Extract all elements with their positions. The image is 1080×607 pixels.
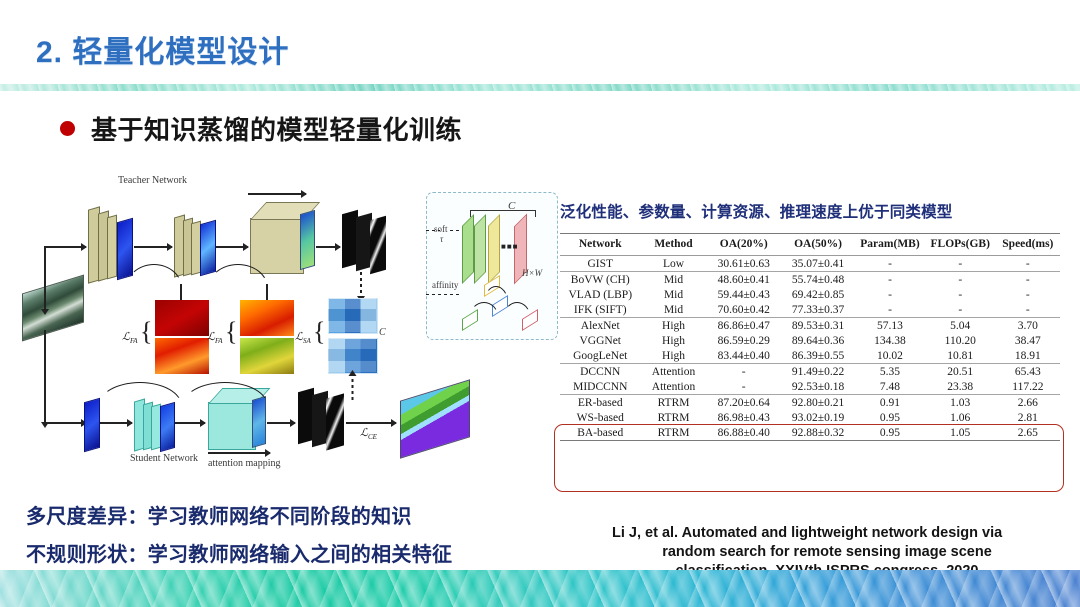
- cell-param: 57.13: [855, 318, 925, 334]
- table-row: BA-basedRTRM86.88±0.4092.88±0.320.951.05…: [560, 425, 1060, 441]
- ce-loss-label: ℒCE: [360, 426, 377, 441]
- citation-line-1: Li J, et al. Automated and lightweight n…: [612, 524, 1042, 543]
- cell-param: -: [855, 256, 925, 272]
- student-arrow-2: [175, 422, 205, 424]
- cell-oa50: 92.53±0.18: [781, 379, 855, 395]
- cell-oa20: 83.44±0.40: [707, 348, 781, 364]
- bullet-dot-icon: [60, 121, 75, 136]
- table-row: AlexNetHigh86.86±0.4789.53±0.3157.135.04…: [560, 318, 1060, 334]
- table-row: VGGNetHigh86.59±0.2989.64±0.36134.38110.…: [560, 333, 1060, 348]
- cell-oa20: 86.59±0.29: [707, 333, 781, 348]
- cell-flops: -: [925, 272, 996, 288]
- cell-method: High: [641, 318, 707, 334]
- inset-hxw-label: H×W: [522, 268, 542, 278]
- cell-speed: 18.91: [996, 348, 1060, 364]
- col-method: Method: [641, 234, 707, 256]
- sa-teacher-grid-overlay: [328, 298, 376, 332]
- cell-oa50: 91.49±0.22: [781, 364, 855, 380]
- cell-oa50: 77.33±0.37: [781, 302, 855, 318]
- table-row: VLAD (LBP)Mid59.44±0.4369.42±0.85---: [560, 287, 1060, 302]
- teacher-cube-body: [250, 218, 304, 274]
- cell-oa50: 89.53±0.31: [781, 318, 855, 334]
- cell-speed: 117.22: [996, 379, 1060, 395]
- cell-net: ER-based: [560, 395, 641, 411]
- sa-brace: {: [313, 317, 325, 347]
- section-heading: 基于知识蒸馏的模型轻量化训练: [60, 110, 462, 147]
- table-row: MIDCCNNAttention-92.53±0.187.4823.38117.…: [560, 379, 1060, 395]
- arrow-to-student: [44, 422, 86, 424]
- student-logits-stack-3: [326, 393, 344, 450]
- section-heading-label: 基于知识蒸馏的模型轻量化训练: [91, 110, 462, 147]
- table-row: IFK (SIFT)Mid70.60±0.4277.33±0.37---: [560, 302, 1060, 318]
- fa2-teacher-heatmap: [240, 300, 294, 336]
- cell-flops: 10.81: [925, 348, 996, 364]
- teacher-sa-arrow: [360, 272, 362, 296]
- student-curve-2: [182, 382, 268, 406]
- cell-oa20: 86.86±0.47: [707, 318, 781, 334]
- student-arrow-1: [100, 422, 132, 424]
- cell-flops: 110.20: [925, 333, 996, 348]
- cell-method: High: [641, 348, 707, 364]
- teacher-fa2-arrow: [266, 284, 268, 300]
- cell-flops: 23.38: [925, 379, 996, 395]
- table-row: DCCNNAttention-91.49±0.225.3520.5165.43: [560, 364, 1060, 380]
- teacher-arrow-2: [216, 246, 248, 248]
- cell-method: RTRM: [641, 395, 707, 411]
- cell-param: 134.38: [855, 333, 925, 348]
- page-title: 2. 轻量化模型设计: [36, 27, 289, 71]
- cell-oa20: 30.61±0.63: [707, 256, 781, 272]
- cell-flops: 1.06: [925, 410, 996, 425]
- teacher-cube-front-map: [300, 210, 315, 270]
- citation-line-2: random search for remote sensing image s…: [612, 543, 1042, 562]
- cell-method: Low: [641, 256, 707, 272]
- cell-method: Mid: [641, 302, 707, 318]
- fa2-brace: {: [225, 317, 237, 347]
- fa2-student-heatmap: [240, 338, 294, 374]
- student-network-label: Student Network: [130, 453, 198, 464]
- student-curve-1: [98, 382, 182, 406]
- cell-oa20: 59.44±0.43: [707, 287, 781, 302]
- col-flops: FLOPs(GB): [925, 234, 996, 256]
- cell-flops: -: [925, 302, 996, 318]
- conclusion-line-1: 多尺度差异：学习教师网络不同阶段的知识: [26, 500, 452, 529]
- cell-speed: 3.70: [996, 318, 1060, 334]
- cell-oa50: 86.39±0.55: [781, 348, 855, 364]
- cell-net: GIST: [560, 256, 641, 272]
- attention-mapping-arrow: [208, 452, 270, 454]
- col-oa50: OA(50%): [781, 234, 855, 256]
- cell-oa20: 87.20±0.64: [707, 395, 781, 411]
- cell-net: GoogLeNet: [560, 348, 641, 364]
- cell-net: MIDCCNN: [560, 379, 641, 395]
- cell-oa20: -: [707, 379, 781, 395]
- fa1-loss-label: ℒFA: [122, 330, 138, 345]
- cell-param: 0.91: [855, 395, 925, 411]
- cell-net: IFK (SIFT): [560, 302, 641, 318]
- table-body: GISTLow30.61±0.6335.07±0.41---BoVW (CH)M…: [560, 256, 1060, 441]
- cell-flops: -: [925, 287, 996, 302]
- table-row: ER-basedRTRM87.20±0.6492.80±0.210.911.03…: [560, 395, 1060, 411]
- cell-method: Mid: [641, 272, 707, 288]
- soft-arrow-left: [426, 230, 440, 231]
- col-param: Param(MB): [855, 234, 925, 256]
- conclusions: 多尺度差异：学习教师网络不同阶段的知识 不规则形状：学习教师网络输入之间的相关特…: [26, 500, 452, 576]
- cell-speed: 38.47: [996, 333, 1060, 348]
- teacher-network-label: Teacher Network: [118, 175, 187, 186]
- teacher-arrow-1: [134, 246, 172, 248]
- cell-flops: 1.05: [925, 425, 996, 441]
- cell-flops: -: [925, 256, 996, 272]
- sa-student-grid-overlay: [328, 338, 376, 372]
- cell-speed: 2.66: [996, 395, 1060, 411]
- sa-channel-label: C: [379, 327, 386, 338]
- fa2-loss-label: ℒFA: [207, 330, 223, 345]
- input-image-thumbnail: [22, 275, 84, 342]
- cell-net: VLAD (LBP): [560, 287, 641, 302]
- cell-oa50: 35.07±0.41: [781, 256, 855, 272]
- cell-oa50: 69.42±0.85: [781, 287, 855, 302]
- results-panel: 泛化性能、参数量、计算资源、推理速度上优于同类模型 Network Method…: [560, 200, 1060, 441]
- cell-method: High: [641, 333, 707, 348]
- col-speed: Speed(ms): [996, 234, 1060, 256]
- cell-net: DCCNN: [560, 364, 641, 380]
- table-row: WS-basedRTRM86.98±0.4393.02±0.190.951.06…: [560, 410, 1060, 425]
- cell-param: -: [855, 287, 925, 302]
- inset-ellipsis-icon: ■■■: [501, 242, 519, 251]
- cell-method: RTRM: [641, 410, 707, 425]
- cell-method: Attention: [641, 364, 707, 380]
- cell-flops: 5.04: [925, 318, 996, 334]
- cell-oa50: 93.02±0.19: [781, 410, 855, 425]
- cell-param: -: [855, 272, 925, 288]
- teacher-feature-map-2: [200, 220, 216, 277]
- input-feed-line: [44, 247, 46, 309]
- fa1-brace: {: [140, 317, 152, 347]
- cell-oa20: 86.98±0.43: [707, 410, 781, 425]
- fa1-teacher-heatmap: [155, 300, 209, 336]
- cell-speed: -: [996, 272, 1060, 288]
- table-header-row: Network Method OA(20%) OA(50%) Param(MB)…: [560, 234, 1060, 256]
- cell-oa20: 70.60±0.42: [707, 302, 781, 318]
- cell-param: 7.48: [855, 379, 925, 395]
- performance-table: Network Method OA(20%) OA(50%) Param(MB)…: [560, 233, 1060, 441]
- arrow-to-teacher: [44, 246, 86, 248]
- knowledge-distillation-diagram: Teacher Network { ℒFA { ℒFA {: [22, 172, 547, 487]
- student-arrow-3: [267, 422, 295, 424]
- teacher-arrow-3: [316, 246, 340, 248]
- teacher-conv-block-1c: [107, 215, 117, 280]
- conclusion-line-2: 不规则形状：学习教师网络输入之间的相关特征: [26, 538, 452, 567]
- cell-net: VGGNet: [560, 333, 641, 348]
- student-arrow-out: [346, 422, 396, 424]
- slide-header: 2. 轻量化模型设计: [0, 0, 1080, 88]
- cell-param: 0.95: [855, 410, 925, 425]
- cell-oa20: 86.88±0.40: [707, 425, 781, 441]
- cell-oa20: 48.60±0.41: [707, 272, 781, 288]
- student-feature-map-1: [160, 402, 175, 452]
- col-network: Network: [560, 234, 641, 256]
- cell-speed: -: [996, 302, 1060, 318]
- student-sa-arrow: [352, 376, 354, 400]
- cell-oa50: 55.74±0.48: [781, 272, 855, 288]
- affinity-label: affinity: [432, 280, 458, 290]
- cell-param: 10.02: [855, 348, 925, 364]
- cell-net: WS-based: [560, 410, 641, 425]
- footer-band: [0, 570, 1080, 607]
- teacher-top-arrow: [248, 193, 306, 195]
- cell-speed: 2.81: [996, 410, 1060, 425]
- cell-flops: 20.51: [925, 364, 996, 380]
- cell-param: 5.35: [855, 364, 925, 380]
- cell-oa50: 89.64±0.36: [781, 333, 855, 348]
- results-caption: 泛化性能、参数量、计算资源、推理速度上优于同类模型: [560, 200, 1060, 222]
- cell-net: AlexNet: [560, 318, 641, 334]
- cell-flops: 1.03: [925, 395, 996, 411]
- teacher-logits-stack-3: [370, 216, 386, 275]
- cell-method: Mid: [641, 287, 707, 302]
- teacher-feature-map-1: [117, 218, 133, 281]
- cell-speed: -: [996, 287, 1060, 302]
- cell-method: Attention: [641, 379, 707, 395]
- cell-net: BoVW (CH): [560, 272, 641, 288]
- cell-net: BA-based: [560, 425, 641, 441]
- cell-param: -: [855, 302, 925, 318]
- table-row: BoVW (CH)Mid48.60±0.4155.74±0.48---: [560, 272, 1060, 288]
- affinity-arrow: [426, 294, 460, 295]
- student-cube-body: [208, 402, 256, 450]
- col-oa20: OA(20%): [707, 234, 781, 256]
- sa-loss-label: ℒSA: [295, 330, 311, 345]
- segmentation-output: [400, 379, 470, 458]
- soft-arrow-right: [450, 230, 462, 231]
- cell-param: 0.95: [855, 425, 925, 441]
- fa1-student-heatmap: [155, 338, 209, 374]
- cell-speed: 2.65: [996, 425, 1060, 441]
- soft-tau-label: τ: [440, 234, 443, 244]
- table-row: GoogLeNetHigh83.44±0.4086.39±0.5510.0210…: [560, 348, 1060, 364]
- input-feed-line-down: [44, 330, 46, 422]
- cell-oa50: 92.80±0.21: [781, 395, 855, 411]
- soft-label: soft: [434, 224, 448, 234]
- inset-bar-yellow: [488, 214, 500, 284]
- cell-speed: -: [996, 256, 1060, 272]
- cell-speed: 65.43: [996, 364, 1060, 380]
- table-row: GISTLow30.61±0.6335.07±0.41---: [560, 256, 1060, 272]
- inset-bar-green-2: [474, 214, 486, 284]
- header-divider: [0, 84, 1080, 91]
- attention-mapping-label: attention mapping: [208, 458, 281, 469]
- cell-oa20: -: [707, 364, 781, 380]
- teacher-fa1-arrow: [180, 284, 182, 300]
- inset-bar-green: [462, 214, 474, 284]
- cell-method: RTRM: [641, 425, 707, 441]
- cell-oa50: 92.88±0.32: [781, 425, 855, 441]
